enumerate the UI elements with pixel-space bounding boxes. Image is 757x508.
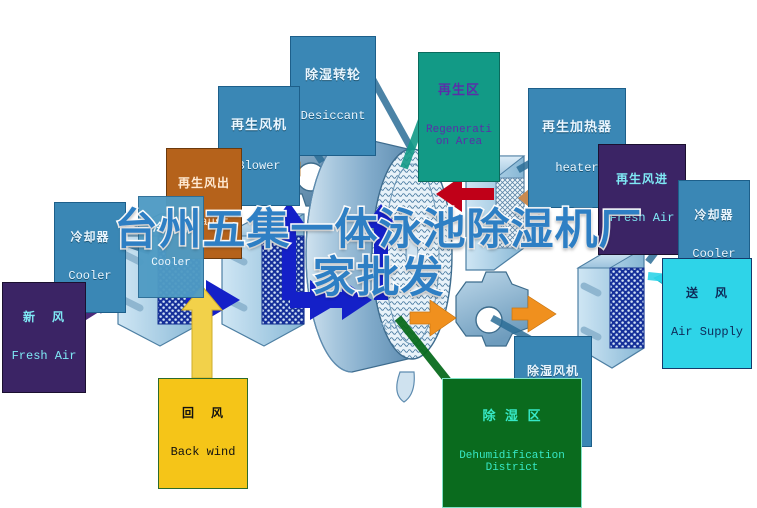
label-cooler-left-lower-cn: 冷却器 xyxy=(139,223,203,235)
label-fresh-air-inlet: 新 风 Fresh Air xyxy=(2,282,86,393)
label-air-supply-en: Air Supply xyxy=(663,326,751,339)
label-cooler-left-upper-cn: 冷却器 xyxy=(55,231,125,244)
rotor-face-mark: XT xyxy=(380,321,394,333)
label-regen-heater-cn: 再生加热器 xyxy=(529,120,625,134)
dehumidifier-system-diagram: XT xyxy=(0,0,757,488)
label-back-wind-cn: 回 风 xyxy=(159,407,247,420)
label-back-wind-en: Back wind xyxy=(159,446,247,459)
label-cooler-left-upper-en: Cooler xyxy=(55,270,125,283)
label-regen-fresh-air-cn: 再生风进 xyxy=(599,173,685,186)
label-regen-exhaust-cn: 再生风出 xyxy=(167,177,241,190)
label-desiccant-rotor-en: Desiccant xyxy=(291,110,375,123)
label-regen-fresh-air-en: Fresh Air xyxy=(599,212,685,225)
label-regeneration-area-cn: 再生区 xyxy=(419,83,499,97)
label-desiccant-rotor-cn: 除湿转轮 xyxy=(291,68,375,82)
label-fresh-air-inlet-en: Fresh Air xyxy=(3,350,85,363)
label-dehum-blower-cn: 除湿风机 xyxy=(515,365,591,378)
label-desiccant-rotor: 除湿转轮 Desiccant xyxy=(290,36,376,156)
label-cooler-right-cn: 冷却器 xyxy=(679,209,749,222)
label-cooler-left-lower-en: Cooler xyxy=(139,258,203,270)
label-dehum-district: 除 湿 区 Dehumidification District xyxy=(442,378,582,508)
label-air-supply: 送 风 Air Supply xyxy=(662,258,752,369)
label-regen-blower-cn: 再生风机 xyxy=(219,118,299,132)
label-dehum-district-en: Dehumidification District xyxy=(443,451,581,475)
label-fresh-air-inlet-cn: 新 风 xyxy=(3,311,85,324)
label-regeneration-area: 再生区 Regenerati on Area xyxy=(418,52,500,182)
label-air-supply-cn: 送 风 xyxy=(663,287,751,300)
label-back-wind: 回 风 Back wind xyxy=(158,378,248,489)
label-regeneration-area-en: Regenerati on Area xyxy=(419,125,499,149)
label-cooler-left-lower: 冷却器 Cooler xyxy=(138,196,204,298)
label-dehum-district-cn: 除 湿 区 xyxy=(443,409,581,423)
label-regen-fresh-air: 再生风进 Fresh Air xyxy=(598,144,686,255)
